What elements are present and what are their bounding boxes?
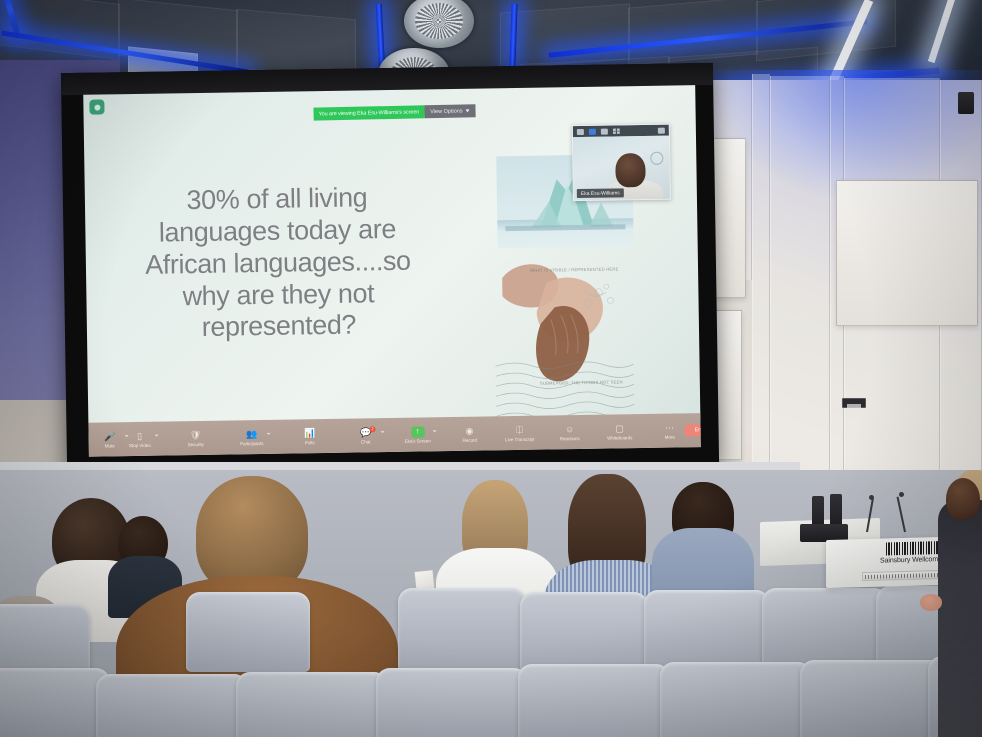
zoom-more-button[interactable]: ⋯ More [654, 422, 684, 439]
zoom-reactions-button[interactable]: ☺ Reactions [554, 423, 584, 440]
wall-whiteboard [836, 180, 978, 326]
slide-line: represented? [129, 309, 429, 346]
participants-icon: 👥 [246, 429, 257, 440]
hand-drawing-illustration: WHAT IS VISIBLE / REPRESENTED HERE SUBME… [488, 244, 641, 421]
zoom-live-transcript-button[interactable]: ⎅ Live Transcript [504, 424, 534, 441]
projection-screen: You are viewing Eka Esu-Williams's scree… [61, 63, 719, 473]
chevron-up-icon[interactable] [381, 431, 385, 433]
zoom-polls-label: Polls [305, 440, 315, 445]
minimize-icon[interactable] [577, 128, 584, 134]
chevron-up-icon[interactable] [155, 434, 159, 436]
ellipsis-icon: ⋯ [664, 422, 675, 433]
zoom-security-label: Security [188, 441, 204, 446]
zoom-whiteboards-button[interactable]: ▢ Whiteboards [604, 423, 634, 440]
standing-presenter-body [938, 500, 982, 737]
zoom-record-button[interactable]: ◉ Record [454, 425, 484, 442]
microphone-head-icon [899, 492, 904, 497]
screen-share-banner: You are viewing Eka Esu-Williams's scree… [313, 104, 475, 120]
mic-indicator-icon [650, 152, 663, 165]
zoom-share-screen-button[interactable]: ↑ Eka's Screen [402, 426, 432, 443]
share-banner-message: You are viewing Eka Esu-Williams's scree… [313, 105, 424, 120]
zoom-polls-button[interactable]: 📊 Polls [295, 428, 325, 445]
list-view-icon[interactable] [601, 128, 608, 134]
zoom-chat-label: Chat [361, 439, 371, 444]
expand-icon[interactable] [658, 127, 665, 133]
shield-icon: 🛡 [190, 429, 201, 440]
view-options-button[interactable]: View Options [424, 104, 476, 118]
standing-presenter-head [946, 478, 980, 520]
slide-line: 30% of all living [127, 181, 427, 218]
share-screen-icon: ↑ [411, 426, 424, 437]
zoom-stop-video-button[interactable]: ▯ Stop Video [125, 430, 155, 447]
zoom-mute-button[interactable]: 🎤 Mute [95, 431, 125, 448]
zoom-security-button[interactable]: 🛡 Security [181, 429, 211, 446]
chevron-down-icon [466, 109, 470, 112]
seat [644, 590, 770, 672]
gallery-view-icon[interactable] [613, 128, 620, 134]
microphone-head-icon [869, 495, 874, 500]
zoom-participants-button[interactable]: 👥 Participants [237, 428, 267, 445]
slide-line: why are they not [128, 277, 428, 314]
standing-presenter-hand [920, 594, 942, 611]
ceiling-light-strip [928, 0, 959, 63]
seat [0, 668, 110, 737]
chat-unread-badge: 2 [369, 426, 375, 432]
zoom-chat-button[interactable]: 💬 2 Chat [350, 427, 380, 444]
zoom-meeting-toolbar[interactable]: 🎤 Mute ▯ Stop Video 🛡 Security 👥 [88, 413, 700, 457]
wall-room-sign [842, 398, 866, 408]
video-camera-icon: ▯ [134, 430, 145, 441]
record-icon: ◉ [464, 425, 475, 436]
ceiling-air-vent [404, 0, 474, 48]
closed-caption-icon: ⎅ [514, 424, 525, 435]
reactions-icon: ☺ [564, 424, 575, 435]
seat [518, 664, 670, 737]
seat [660, 662, 812, 737]
zoom-whiteboards-label: Whiteboards [607, 435, 632, 440]
slide-line: African languages....so [128, 245, 428, 282]
chevron-up-icon[interactable] [267, 432, 271, 434]
participant-video: Eka Esu-Williams [573, 136, 670, 202]
seat [520, 592, 648, 674]
slide-body-text: 30% of all living languages today are Af… [127, 181, 429, 345]
seat [236, 672, 388, 737]
zoom-share-screen-label: Eka's Screen [405, 438, 431, 443]
seat [186, 592, 310, 672]
screen-share-active-icon [89, 99, 104, 114]
zoom-reactions-label: Reactions [560, 436, 580, 441]
zoom-self-view-thumbnail[interactable]: Eka Esu-Williams [572, 124, 671, 202]
zoom-record-label: Record [462, 437, 477, 442]
microphone-icon: 🎤 [104, 431, 115, 442]
wall-mounted-speaker [958, 92, 974, 114]
chevron-up-icon[interactable] [433, 430, 437, 432]
lecture-theatre-photo: You are viewing Eka Esu-Williams's scree… [0, 0, 982, 737]
zoom-mute-label: Mute [105, 443, 115, 448]
seat [96, 674, 248, 737]
seat [762, 588, 888, 670]
seat [398, 588, 526, 670]
zoom-shared-screen: You are viewing Eka Esu-Williams's scree… [83, 85, 701, 457]
zoom-more-label: More [665, 434, 675, 439]
seat [376, 668, 528, 737]
zoom-live-transcript-label: Live Transcript [505, 436, 534, 441]
participant-name-label: Eka Esu-Williams [577, 188, 624, 198]
zoom-stop-video-label: Stop Video [129, 442, 151, 447]
whiteboard-icon: ▢ [614, 423, 625, 434]
bar-chart-icon: 📊 [304, 428, 315, 439]
zoom-end-meeting-button[interactable]: End [684, 424, 700, 436]
zoom-participants-label: Participants [240, 441, 263, 446]
slide-line: languages today are [127, 213, 427, 250]
speaker-view-icon[interactable] [589, 128, 596, 134]
view-options-label: View Options [430, 108, 462, 115]
